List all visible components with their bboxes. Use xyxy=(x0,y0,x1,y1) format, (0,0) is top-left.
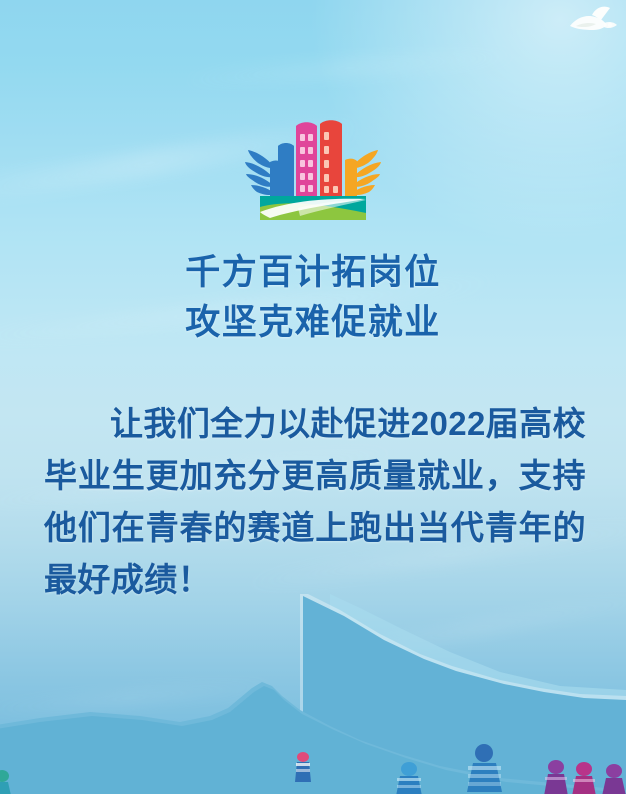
headline-line-1: 千方百计拓岗位 xyxy=(0,248,626,298)
logo-building-blue xyxy=(278,143,294,196)
dove-icon xyxy=(566,6,618,42)
logo-hand-left xyxy=(245,150,281,196)
headline-line-2: 攻坚克难促就业 xyxy=(0,298,626,348)
cloud-wisp xyxy=(180,46,521,90)
logo-hand-right xyxy=(345,150,381,196)
logo-landscape xyxy=(260,196,366,220)
poster-canvas: 千方百计拓岗位 攻坚克难促就业 让我们全力以赴促进2022届高校毕业生更加充分更… xyxy=(0,0,626,794)
logo-building-red xyxy=(320,120,342,196)
mountain-silhouette xyxy=(0,594,626,794)
employment-promotion-logo xyxy=(238,112,388,224)
page-title: 千方百计拓岗位 攻坚克难促就业 xyxy=(0,248,626,348)
body-paragraph: 让我们全力以赴促进2022届高校毕业生更加充分更高质量就业，支持他们在青春的赛道… xyxy=(44,398,586,606)
logo-container xyxy=(0,112,626,224)
crowd-figure xyxy=(295,752,311,782)
logo-building-pink xyxy=(296,122,317,196)
